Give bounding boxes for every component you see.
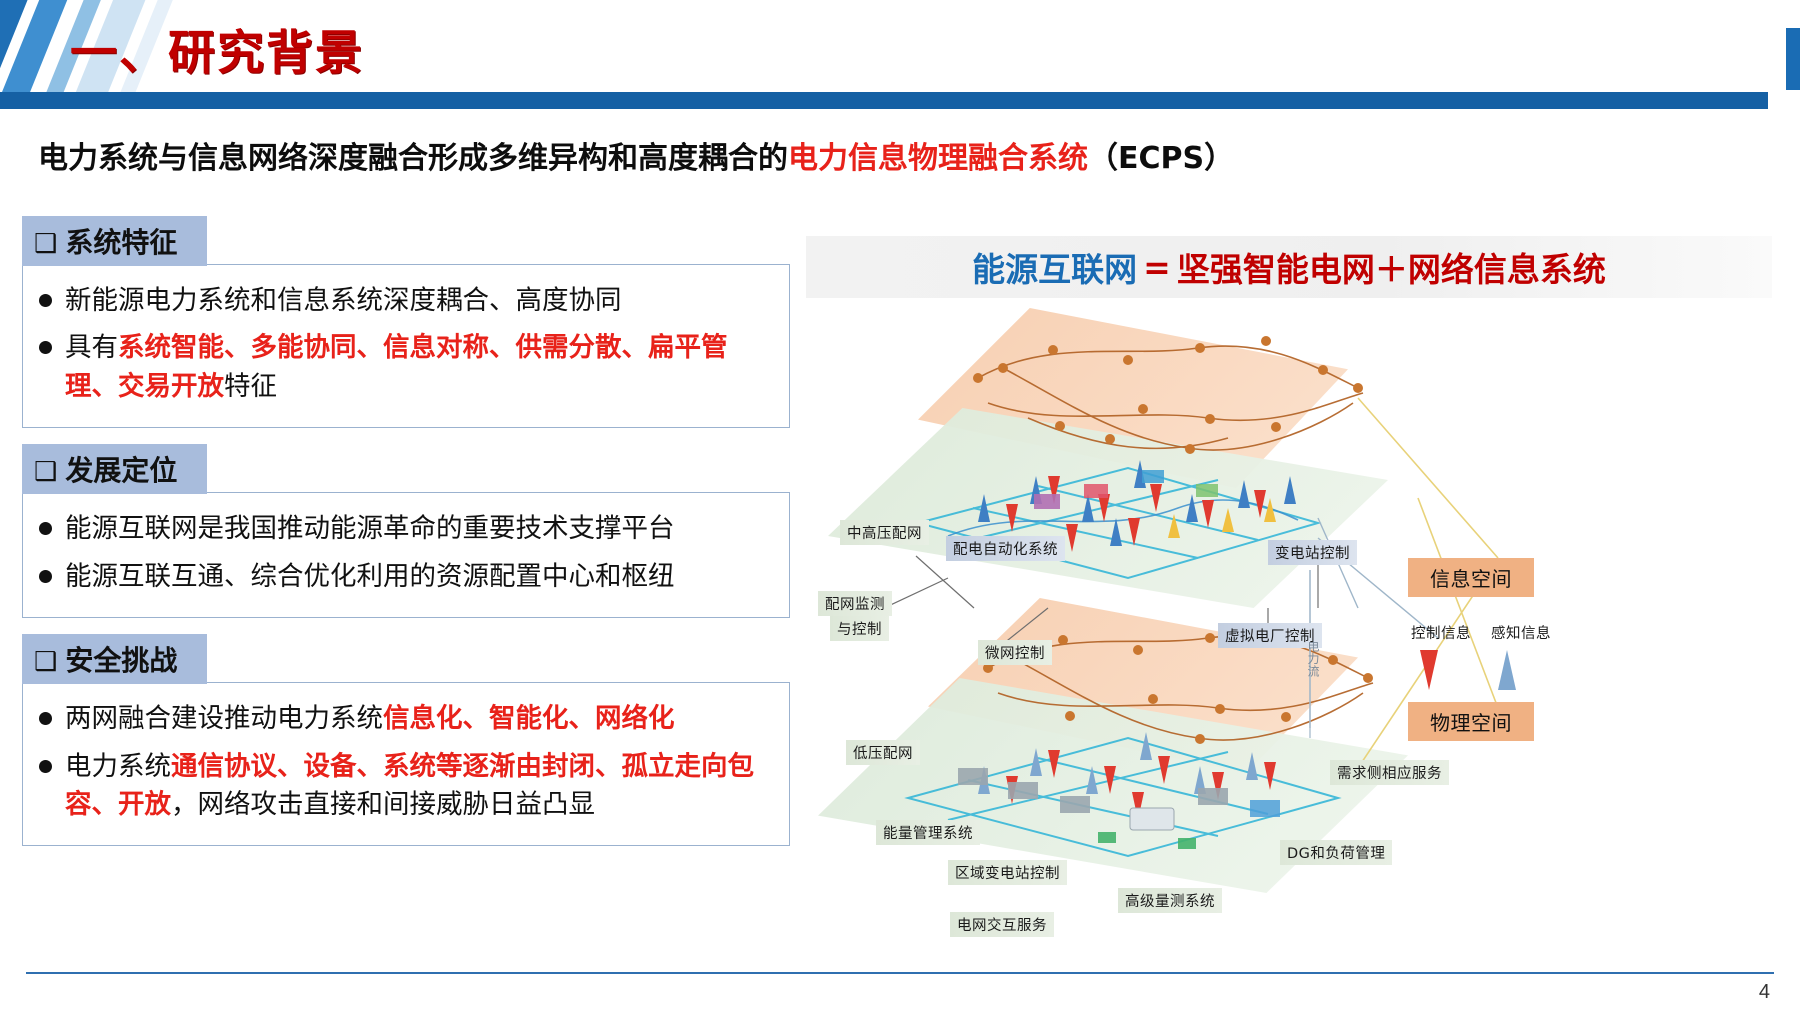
diagram-label-information-space: 信息空间	[1408, 558, 1534, 597]
text-segment: 两网融合建设推动电力系统	[65, 703, 383, 734]
text-segment-highlight: 系统智能、多能协同、信息对称、供需分散、扁平管理、交易开放	[65, 332, 728, 401]
diagram-label-distribution-automation-system: 配电自动化系统	[946, 536, 1065, 561]
diagram-label-grid-interaction-service: 电网交互服务	[950, 912, 1054, 937]
panel-title: 安全挑战	[65, 644, 177, 677]
list-item: 两网融合建设推动电力系统信息化、智能化、网络化	[33, 700, 775, 738]
diagram-label-power-flow: 电力流	[1298, 638, 1329, 680]
diagram-label-regional-substation-control: 区域变电站控制	[948, 860, 1067, 885]
diagram-label-dg-and-load-management: DG和负荷管理	[1280, 840, 1392, 865]
text-segment: 电力系统	[65, 751, 171, 782]
list-item-text: 两网融合建设推动电力系统信息化、智能化、网络化	[65, 700, 775, 738]
list-item-text: 能源互联互通、综合优化利用的资源配置中心和枢纽	[65, 558, 775, 596]
right-content-column: 能源互联网 = 坚强智能电网＋网络信息系统	[798, 216, 1782, 906]
energy-internet-equation-banner: 能源互联网 = 坚强智能电网＋网络信息系统	[806, 236, 1772, 298]
panel-header: ❑安全挑战	[22, 634, 207, 684]
diagram-label-microgrid-control: 微网控制	[978, 640, 1052, 665]
diagram-label-grid-monitoring: 配网监测	[818, 591, 892, 616]
diagram-label-advanced-metering-system: 高级量测系统	[1118, 888, 1222, 913]
list-item-text: 电力系统通信协议、设备、系统等逐渐由封闭、孤立走向包容、开放，网络攻击直接和间接…	[65, 748, 775, 825]
list-item: 能源互联网是我国推动能源革命的重要技术支撑平台	[33, 510, 775, 548]
text-segment: 特征	[224, 371, 277, 402]
panel-header: ❑系统特征	[22, 216, 207, 266]
subtitle-highlight: 电力信息物理融合系统	[788, 141, 1088, 176]
bullet-dot-icon	[39, 570, 52, 583]
equation-right-term: 坚强智能电网＋网络信息系统	[1177, 243, 1606, 291]
square-bullet-icon: ❑	[34, 229, 57, 259]
subtitle-part1: 电力系统与信息网络深度融合形成多维异构和高度耦合的	[38, 141, 788, 176]
square-bullet-icon: ❑	[34, 647, 57, 677]
list-item-text: 能源互联网是我国推动能源革命的重要技术支撑平台	[65, 510, 775, 548]
panel-title: 发展定位	[65, 454, 177, 487]
diagram-label-energy-management-system: 能量管理系统	[876, 820, 980, 845]
plane-upper-physical-grid	[828, 408, 1388, 608]
equation-left-term: 能源互联网	[972, 243, 1137, 291]
list-item: 能源互联互通、综合优化利用的资源配置中心和枢纽	[33, 558, 775, 596]
panel-system-features: ❑系统特征 新能源电力系统和信息系统深度耦合、高度协同 具有系统智能、多能协同、…	[22, 216, 790, 428]
list-item: 新能源电力系统和信息系统深度耦合、高度协同	[33, 282, 775, 320]
list-item-text: 新能源电力系统和信息系统深度耦合、高度协同	[65, 282, 775, 320]
slide-subtitle: 电力系统与信息网络深度融合形成多维异构和高度耦合的电力信息物理融合系统（ECPS…	[38, 133, 1234, 177]
header-right-tab	[1786, 28, 1800, 90]
list-item: 具有系统智能、多能协同、信息对称、供需分散、扁平管理、交易开放特征	[33, 329, 775, 406]
panel-title: 系统特征	[65, 226, 177, 259]
bullet-dot-icon	[39, 760, 52, 773]
square-bullet-icon: ❑	[34, 457, 57, 487]
footer-rule	[26, 972, 1774, 974]
diagram-label-demand-side-response-service: 需求侧相应服务	[1330, 760, 1449, 785]
diagram-label-substation-control: 变电站控制	[1268, 540, 1357, 565]
list-item-text: 具有系统智能、多能协同、信息对称、供需分散、扁平管理、交易开放特征	[65, 329, 775, 406]
diagram-label-medium-high-voltage-grid: 中高压配网	[840, 520, 929, 545]
panel-header: ❑发展定位	[22, 444, 207, 494]
diagram-label-low-voltage-grid: 低压配网	[846, 740, 920, 765]
panel-development-position: ❑发展定位 能源互联网是我国推动能源革命的重要技术支撑平台 能源互联互通、综合优…	[22, 444, 790, 618]
header-rule	[0, 92, 1768, 109]
diagram-label-sensing-information: 感知信息	[1484, 620, 1558, 645]
bullet-dot-icon	[39, 341, 52, 354]
bullet-dot-icon	[39, 294, 52, 307]
diagram-label-control-information: 控制信息	[1404, 620, 1478, 645]
panel-body: 新能源电力系统和信息系统深度耦合、高度协同 具有系统智能、多能协同、信息对称、供…	[22, 264, 790, 428]
diagram-label-and-control: 与控制	[830, 616, 889, 641]
page-number: 4	[1759, 981, 1770, 1004]
left-content-column: ❑系统特征 新能源电力系统和信息系统深度耦合、高度协同 具有系统智能、多能协同、…	[22, 216, 790, 862]
slide-header: 一、研究背景	[0, 0, 1800, 112]
text-segment: ，网络攻击直接和间接威胁日益凸显	[171, 789, 595, 820]
panel-security-challenges: ❑安全挑战 两网融合建设推动电力系统信息化、智能化、网络化 电力系统通信协议、设…	[22, 634, 790, 846]
subtitle-part2: （ECPS）	[1088, 141, 1234, 176]
equation-equals: =	[1143, 248, 1171, 287]
bullet-dot-icon	[39, 712, 52, 725]
text-segment-highlight: 信息化、智能化、网络化	[383, 703, 675, 734]
page-title: 一、研究背景	[70, 14, 364, 83]
diagram-label-physical-space: 物理空间	[1408, 702, 1534, 741]
bullet-dot-icon	[39, 522, 52, 535]
list-item: 电力系统通信协议、设备、系统等逐渐由封闭、孤立走向包容、开放，网络攻击直接和间接…	[33, 748, 775, 825]
ecps-architecture-diagram: 中高压配网 配电自动化系统 变电站控制 配网监测 与控制 微网控制 虚拟电厂控制…	[798, 308, 1782, 908]
panel-body: 两网融合建设推动电力系统信息化、智能化、网络化 电力系统通信协议、设备、系统等逐…	[22, 682, 790, 846]
panel-body: 能源互联网是我国推动能源革命的重要技术支撑平台 能源互联互通、综合优化利用的资源…	[22, 492, 790, 618]
text-segment: 具有	[65, 332, 118, 363]
